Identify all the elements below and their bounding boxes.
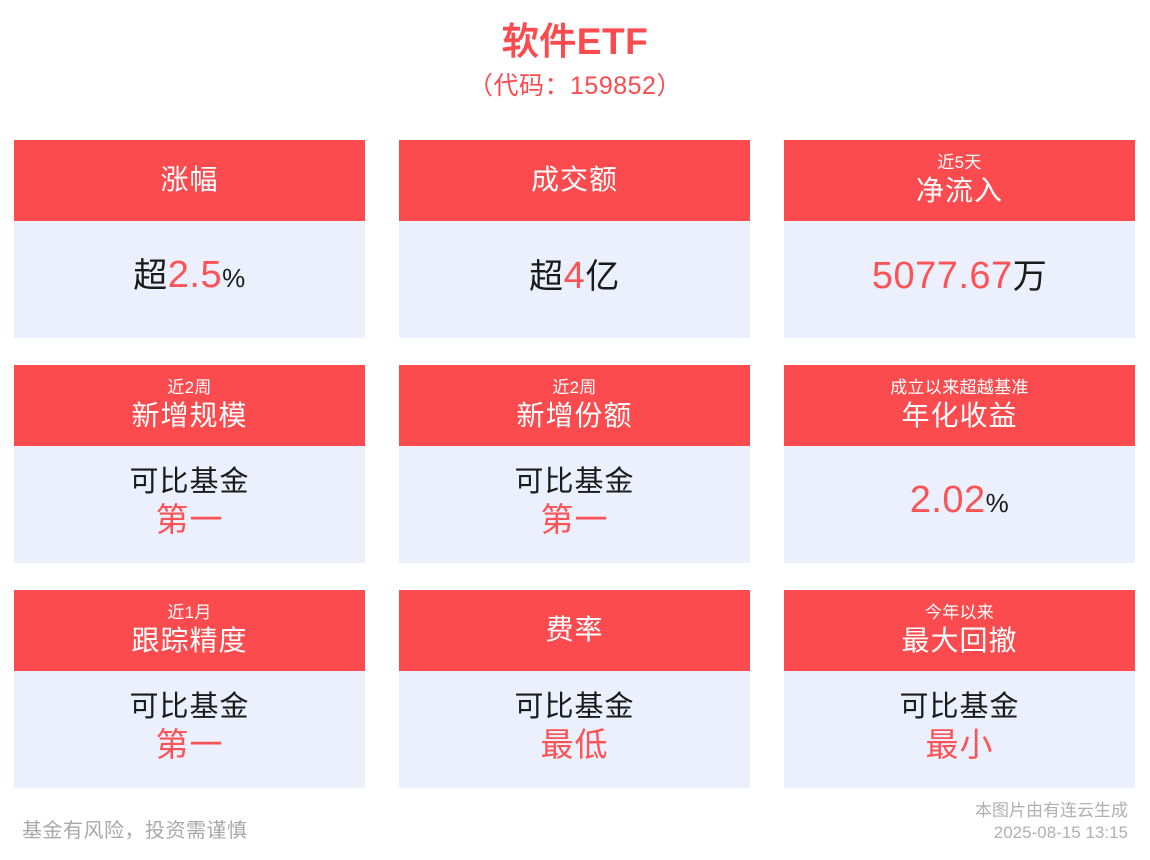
stat-card-body: 可比基金第一 — [14, 671, 365, 788]
stat-card-title: 涨幅 — [160, 161, 218, 199]
generation-note: 本图片由有连云生成 2025-08-15 13:15 — [975, 800, 1128, 844]
stat-card-body: 可比基金最小 — [784, 671, 1135, 788]
stat-card-title: 新增份额 — [516, 399, 632, 433]
stat-card-header: 涨幅 — [14, 140, 365, 221]
stat-card-grid: 涨幅超2.5%成交额超4亿近5天净流入5077.67万近2周新增规模可比基金第一… — [14, 140, 1136, 788]
stat-card-period-label: 近2周 — [167, 377, 211, 399]
stat-value-unit: 万 — [1013, 258, 1048, 296]
stat-card-value: 超2.5% — [133, 253, 245, 300]
stat-card-title: 年化收益 — [901, 399, 1017, 433]
stat-card[interactable]: 近5天净流入5077.67万 — [784, 140, 1135, 338]
stat-card-title: 费率 — [545, 611, 603, 649]
stat-card-period-label: 近1月 — [167, 602, 211, 624]
stat-card-rank-value: 第一 — [541, 500, 609, 540]
generated-at-timestamp: 2025-08-15 13:15 — [975, 822, 1128, 844]
stat-value-unit: 亿 — [585, 258, 620, 296]
stat-card-header: 费率 — [399, 590, 750, 671]
generated-by-label: 本图片由有连云生成 — [975, 800, 1128, 822]
stat-card-comparison-label: 可比基金 — [129, 464, 249, 500]
stat-card-period-label: 成立以来超越基准 — [890, 377, 1028, 399]
stat-card-header: 成交额 — [399, 140, 750, 221]
page-title: 软件ETF — [0, 18, 1150, 66]
stat-card-body: 2.02% — [784, 446, 1135, 563]
stat-card-body: 可比基金第一 — [14, 446, 365, 563]
stat-card[interactable]: 近2周新增规模可比基金第一 — [14, 365, 365, 563]
stat-card[interactable]: 成交额超4亿 — [399, 140, 750, 338]
stat-card-title: 成交额 — [531, 161, 618, 199]
stat-card-comparison-label: 可比基金 — [129, 689, 249, 725]
stat-card-body: 超2.5% — [14, 221, 365, 338]
stat-card-body: 可比基金最低 — [399, 671, 750, 788]
stat-card-header: 成立以来超越基准年化收益 — [784, 365, 1135, 446]
stat-card[interactable]: 费率可比基金最低 — [399, 590, 750, 788]
stat-card-title: 新增规模 — [131, 399, 247, 433]
stat-card-title: 净流入 — [916, 174, 1003, 208]
stat-value-prefix: 超 — [133, 257, 168, 295]
stat-card-period-label: 近5天 — [937, 152, 981, 174]
stat-card-title: 最大回撤 — [901, 624, 1017, 658]
stat-card-comparison-label: 可比基金 — [514, 464, 634, 500]
stat-card-period-label: 近2周 — [552, 377, 596, 399]
stat-card-rank-value: 第一 — [156, 725, 224, 765]
stat-card-title: 跟踪精度 — [131, 624, 247, 658]
stat-value-unit: % — [986, 488, 1010, 518]
stat-card-header: 近2周新增规模 — [14, 365, 365, 446]
stat-value-number: 4 — [564, 255, 586, 297]
stat-card-body: 超4亿 — [399, 221, 750, 338]
stat-card-header: 近1月跟踪精度 — [14, 590, 365, 671]
stat-card-header: 近5天净流入 — [784, 140, 1135, 221]
stat-value-prefix: 超 — [529, 258, 564, 296]
stat-card-comparison-label: 可比基金 — [899, 689, 1019, 725]
page-footer: 基金有风险，投资需谨慎 本图片由有连云生成 2025-08-15 13:15 — [0, 790, 1150, 860]
stat-card-value: 5077.67万 — [872, 254, 1047, 299]
stat-card-value: 2.02% — [910, 478, 1010, 525]
stat-card-body: 5077.67万 — [784, 221, 1135, 338]
stat-value-number: 2.5 — [168, 254, 222, 296]
stat-card[interactable]: 涨幅超2.5% — [14, 140, 365, 338]
stat-card[interactable]: 近1月跟踪精度可比基金第一 — [14, 590, 365, 788]
stat-card-rank-value: 最小 — [926, 725, 994, 765]
stat-card-body: 可比基金第一 — [399, 446, 750, 563]
stat-card-rank-value: 最低 — [541, 725, 609, 765]
stat-card-value: 超4亿 — [529, 254, 620, 299]
stat-value-unit: % — [222, 263, 246, 293]
stat-card[interactable]: 近2周新增份额可比基金第一 — [399, 365, 750, 563]
page-header: 软件ETF （代码：159852） — [0, 0, 1150, 106]
stat-card[interactable]: 成立以来超越基准年化收益2.02% — [784, 365, 1135, 563]
fund-code-subtitle: （代码：159852） — [0, 66, 1150, 106]
stat-card[interactable]: 今年以来最大回撤可比基金最小 — [784, 590, 1135, 788]
stat-card-header: 今年以来最大回撤 — [784, 590, 1135, 671]
stat-card-rank-value: 第一 — [156, 500, 224, 540]
stat-card-period-label: 今年以来 — [925, 602, 994, 624]
stat-card-header: 近2周新增份额 — [399, 365, 750, 446]
stat-card-comparison-label: 可比基金 — [514, 689, 634, 725]
stat-value-number: 2.02 — [910, 479, 986, 521]
stat-value-number: 5077.67 — [872, 255, 1013, 297]
risk-disclaimer: 基金有风险，投资需谨慎 — [22, 818, 248, 844]
